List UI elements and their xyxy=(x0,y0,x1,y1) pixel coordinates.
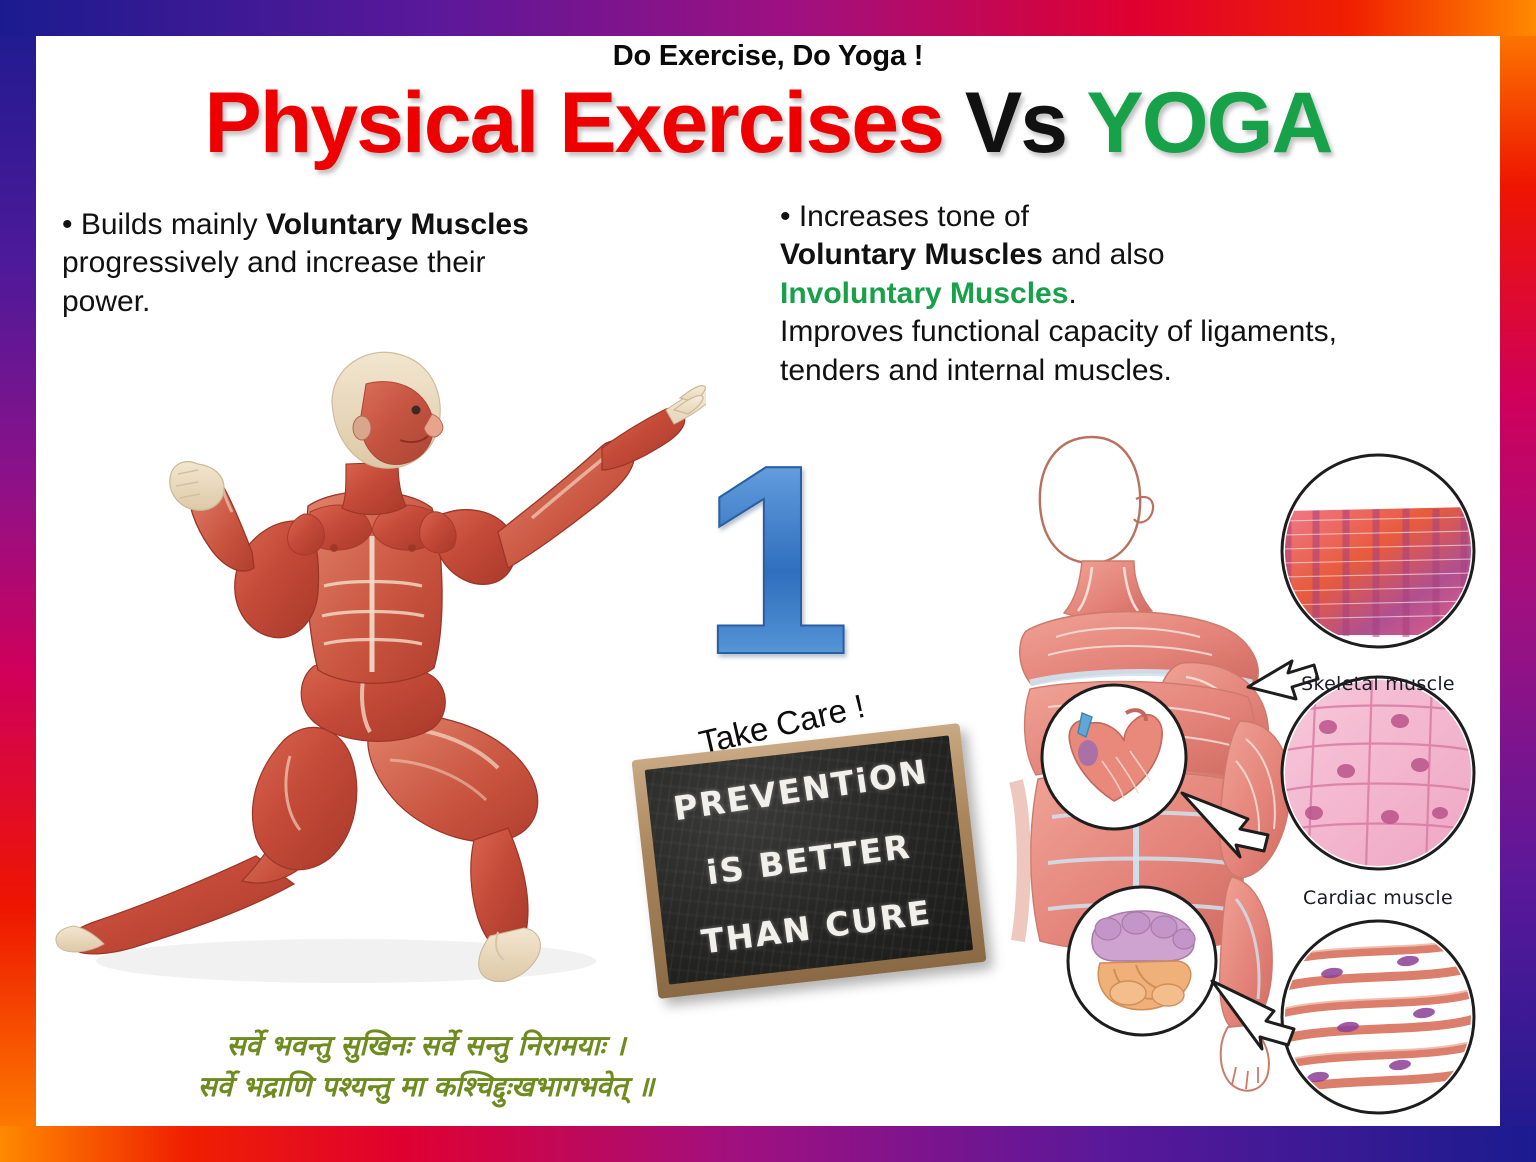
left-line3: power. xyxy=(62,285,150,318)
chalkboard: PREVENTiON iS BETTER THAN CURE xyxy=(631,723,986,999)
poster-canvas: Do Exercise, Do Yoga ! Physical Exercise… xyxy=(36,36,1500,1126)
callout-smooth xyxy=(1068,887,1474,1113)
muscular-figure-illustration xyxy=(46,336,706,1016)
poster-frame: Do Exercise, Do Yoga ! Physical Exercise… xyxy=(0,0,1536,1162)
title-vs: Vs xyxy=(965,75,1066,171)
right-line2-bold: Voluntary Muscles xyxy=(780,238,1043,271)
label-skeletal-muscle: Skeletal muscle xyxy=(1268,673,1488,695)
right-bullet: • xyxy=(780,200,791,233)
shloka-line-2: सर्वे भद्राणि पश्यन्तु मा कश्चिद्दुःखभाग… xyxy=(56,1067,796,1108)
title-yoga: YOGA xyxy=(1086,75,1331,171)
anatomy-svg xyxy=(996,421,1496,1121)
right-line2-post: and also xyxy=(1043,238,1165,271)
left-line1-pre: Builds mainly xyxy=(73,208,266,241)
page-title: Physical Exercises Vs YOGA xyxy=(36,74,1500,173)
left-bullet: • xyxy=(62,208,73,241)
right-line3-green: Involuntary Muscles xyxy=(780,277,1068,310)
right-line1: Increases tone of xyxy=(791,200,1029,233)
right-line4: Improves functional capacity of ligament… xyxy=(780,315,1337,348)
left-description: • Builds mainly Voluntary Muscles progre… xyxy=(62,206,722,321)
sanskrit-shloka: सर्वे भवन्तु सुखिनः सर्वे सन्तु निरामयाः… xyxy=(56,1026,796,1107)
title-exercises: Physical Exercises xyxy=(204,75,943,171)
callout-skeletal xyxy=(1248,455,1474,699)
right-description: • Increases tone of Voluntary Muscles an… xyxy=(780,198,1492,390)
left-line1-bold: Voluntary Muscles xyxy=(266,208,529,241)
shloka-line-1: सर्वे भवन्तु सुखिनः सर्वे सन्तु निरामयाः… xyxy=(56,1026,796,1067)
left-line2: progressively and increase their xyxy=(62,246,486,279)
chalk-line-3: THAN CURE xyxy=(662,888,970,967)
chalk-line-2: iS BETTER xyxy=(655,820,963,899)
chalkboard-surface: PREVENTiON iS BETTER THAN CURE xyxy=(645,735,973,984)
right-line5: tenders and internal muscles. xyxy=(780,354,1172,387)
right-line3-post: . xyxy=(1068,277,1076,310)
muscular-figure-svg xyxy=(46,336,706,1016)
tagline: Do Exercise, Do Yoga ! xyxy=(36,40,1500,73)
label-cardiac-muscle: Cardiac muscle xyxy=(1268,887,1488,909)
step-number-1: 1 xyxy=(696,436,856,696)
anatomy-callout-diagram: Skeletal muscle Cardiac muscle Smooth mu… xyxy=(996,421,1496,1121)
